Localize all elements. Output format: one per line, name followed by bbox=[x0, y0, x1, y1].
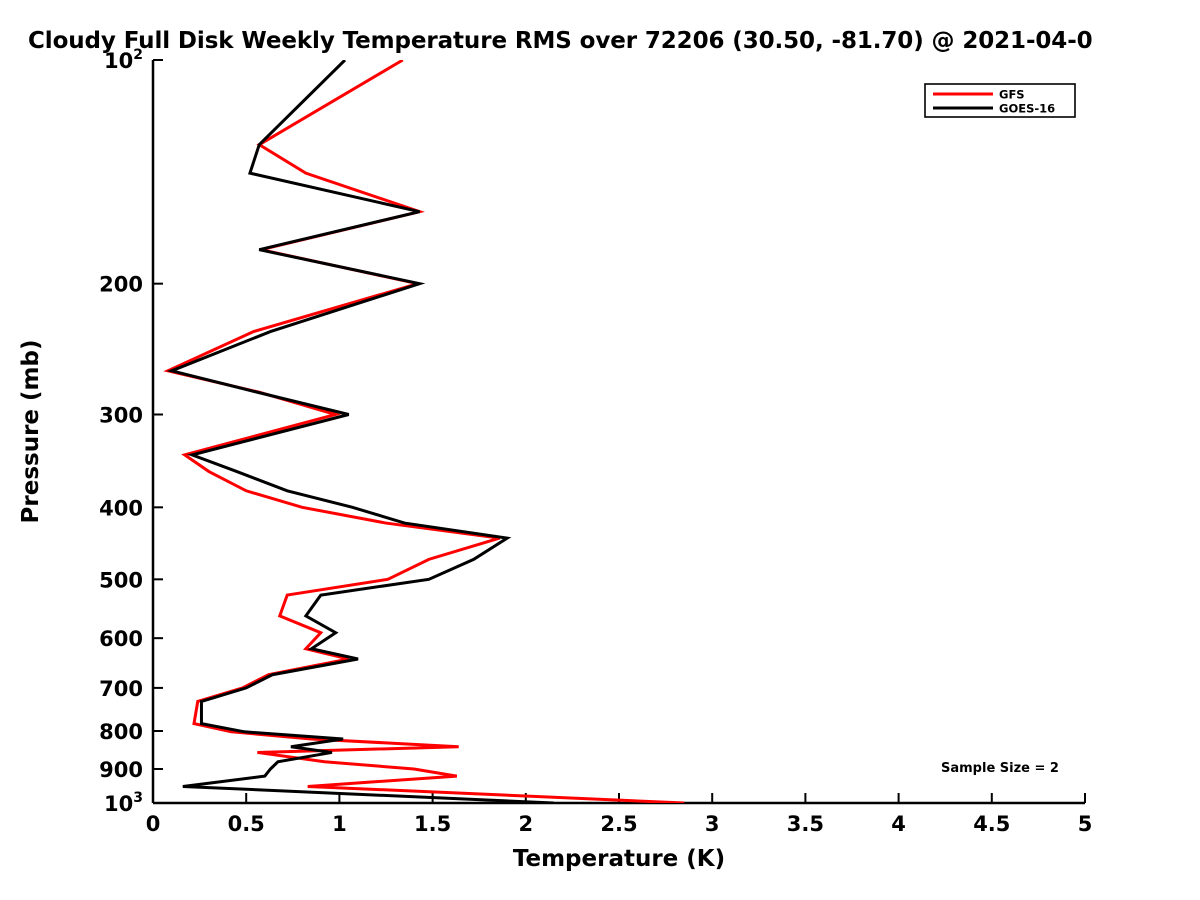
y-tick-label: 200 bbox=[99, 273, 143, 297]
x-tick-label: 2 bbox=[518, 812, 533, 836]
legend-label-goes-16: GOES-16 bbox=[999, 102, 1055, 116]
x-tick-label: 3 bbox=[705, 812, 720, 836]
plot-figure: Cloudy Full Disk Weekly Temperature RMS … bbox=[0, 0, 1200, 900]
series-line-gfs bbox=[168, 60, 684, 803]
y-tick-label: 500 bbox=[99, 568, 143, 592]
x-tick-label: 1 bbox=[332, 812, 347, 836]
x-tick-label: 0.5 bbox=[228, 812, 265, 836]
x-tick-label: 4 bbox=[891, 812, 906, 836]
axis-frame bbox=[153, 60, 1085, 803]
y-tick-label: 102 bbox=[104, 47, 143, 73]
y-axis-label: Pressure (mb) bbox=[18, 340, 44, 524]
x-axis-label: Temperature (K) bbox=[513, 846, 725, 872]
x-tick-label: 2.5 bbox=[600, 812, 637, 836]
x-tick-label: 5 bbox=[1078, 812, 1093, 836]
y-tick-label: 900 bbox=[99, 758, 143, 782]
legend[interactable]: GFSGOES-16 bbox=[925, 84, 1075, 117]
data-series-group bbox=[168, 60, 684, 803]
annotation-label: Sample Size = 2 bbox=[941, 761, 1059, 776]
y-tick-label: 700 bbox=[99, 677, 143, 701]
chart-canvas: 00.511.522.533.544.55 102200300400500600… bbox=[0, 0, 1200, 900]
x-tick-label: 3.5 bbox=[787, 812, 824, 836]
sample-size-annotation: Sample Size = 2 bbox=[941, 761, 1059, 776]
y-tick-label: 600 bbox=[99, 627, 143, 651]
y-tick-label: 103 bbox=[104, 790, 143, 816]
y-tick-label: 400 bbox=[99, 496, 143, 520]
x-tick-label: 0 bbox=[146, 812, 161, 836]
y-tick-label: 300 bbox=[99, 404, 143, 428]
legend-label-gfs: GFS bbox=[999, 88, 1025, 102]
x-tick-label: 1.5 bbox=[414, 812, 451, 836]
x-tick-label: 4.5 bbox=[973, 812, 1010, 836]
y-tick-label: 800 bbox=[99, 720, 143, 744]
